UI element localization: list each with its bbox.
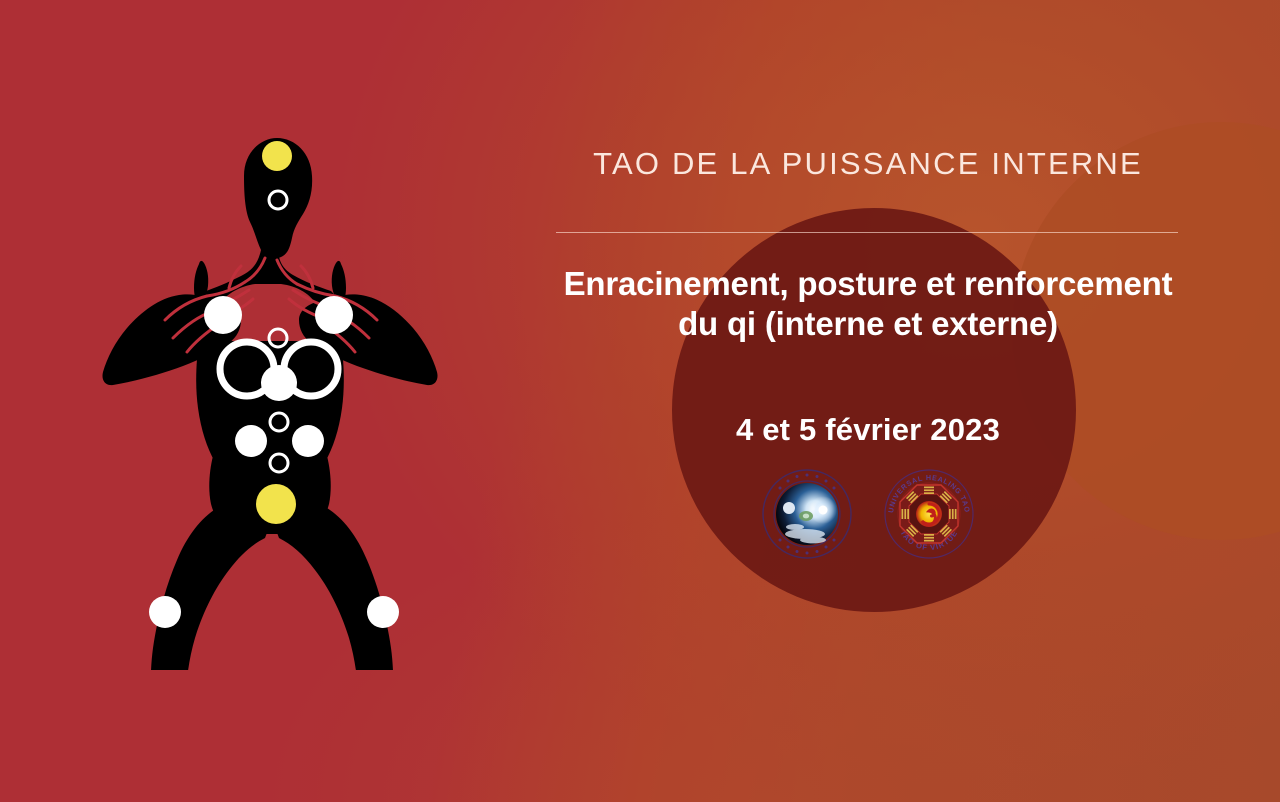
poster-date: 4 et 5 février 2023 bbox=[556, 412, 1180, 448]
point-shoulder-right bbox=[315, 296, 353, 334]
content-column: TAO DE LA PUISSANCE INTERNE Enracinement… bbox=[556, 0, 1180, 802]
point-knee-right bbox=[367, 596, 399, 628]
divider-rule bbox=[556, 232, 1178, 233]
point-knee-left bbox=[149, 596, 181, 628]
figure-silhouette-body bbox=[102, 138, 437, 670]
poster-canvas: TAO DE LA PUISSANCE INTERNE Enracinement… bbox=[0, 0, 1280, 802]
point-sternum bbox=[261, 365, 297, 401]
universal-healing-tao-logo: UNIVERSAL HEALING TAO TAO OF VIRTUE bbox=[883, 468, 975, 560]
point-shoulder-left bbox=[204, 296, 242, 334]
logo-row: UNIVERSAL HEALING TAO TAO OF VIRTUE bbox=[556, 468, 1180, 560]
headline-line-2: du qi (interne et externe) bbox=[556, 304, 1180, 344]
point-crown-yellow bbox=[262, 141, 292, 171]
qigong-figure-illustration bbox=[95, 100, 455, 670]
point-abdomen-right bbox=[292, 425, 324, 457]
poster-kicker: TAO DE LA PUISSANCE INTERNE bbox=[556, 146, 1180, 182]
healing-tao-earth-logo bbox=[761, 468, 853, 560]
poster-headline: Enracinement, posture et renforcement du… bbox=[556, 264, 1180, 345]
point-lower-dantian-yellow bbox=[256, 484, 296, 524]
logo-moon bbox=[783, 502, 795, 514]
logo-flare-core bbox=[819, 506, 828, 515]
logo-centre-motif-core bbox=[803, 514, 809, 519]
headline-line-1: Enracinement, posture et renforcement bbox=[556, 264, 1180, 304]
point-abdomen-left bbox=[235, 425, 267, 457]
